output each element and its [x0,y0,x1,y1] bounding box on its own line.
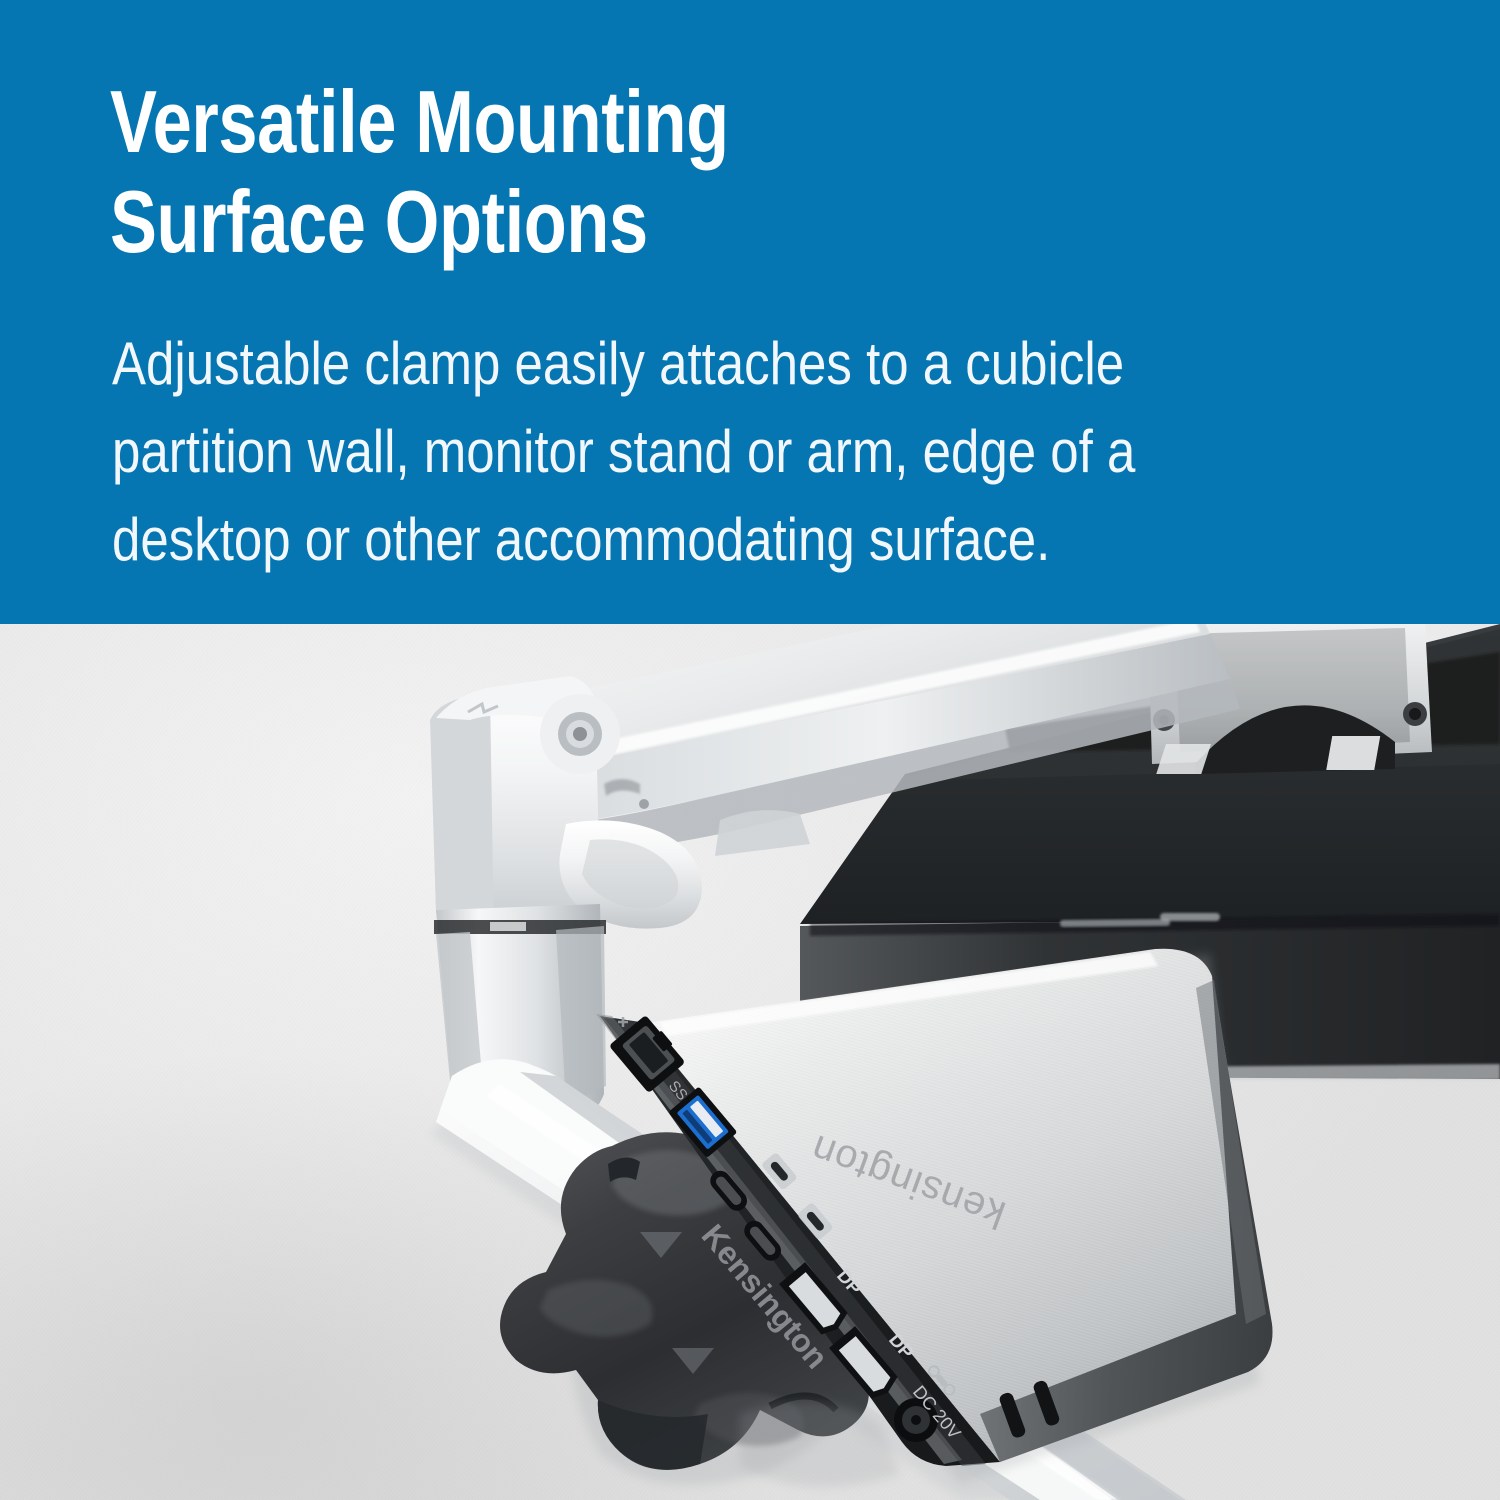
headline-banner: Versatile Mounting Surface Options Adjus… [0,0,1500,624]
product-illustration: kensington Kensington [0,624,1500,1500]
product-marketing-banner: Versatile Mounting Surface Options Adjus… [0,0,1500,1500]
page-subtitle: Adjustable clamp easily attaches to a cu… [112,320,1438,584]
page-title: Versatile Mounting Surface Options [110,72,1134,272]
product-photograph: kensington Kensington [0,624,1500,1500]
